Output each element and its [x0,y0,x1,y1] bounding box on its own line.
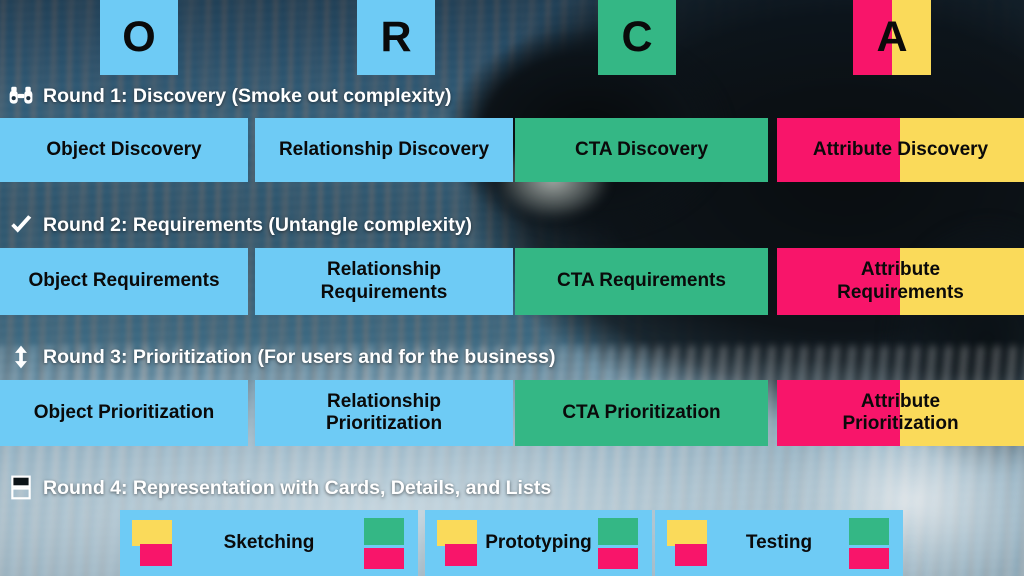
bar-relationship-prioritization: Relationship Prioritization [255,380,513,446]
bar-cta-discovery: CTA Discovery [515,118,768,182]
chip-pink-block [598,548,638,569]
round-1-title: Round 1: Discovery (Smoke out complexity… [43,85,452,108]
bar-relationship-discovery: Relationship Discovery [255,118,513,182]
bar-attribute-prioritization: Attribute Prioritization [777,380,1024,446]
bar-object-prioritization: Object Prioritization [0,380,248,446]
round-3-header: Round 3: Prioritization (For users and f… [8,344,555,370]
chip-pink-block [364,548,404,569]
bar-attribute-discovery: Attribute Discovery [777,118,1024,182]
chip-pink-block [140,544,172,566]
letter-tile-o: O [100,0,178,75]
prototyping-output-chip-icon [594,518,640,568]
card-sketching: Sketching [120,510,418,576]
chip-pink-block [445,544,477,566]
card-testing: Testing [655,510,903,576]
checkmark-icon [8,212,34,238]
card-prototyping-label: Prototyping [483,532,594,554]
card-sketching-label: Sketching [178,532,360,554]
chip-yellow-block [132,520,172,546]
letter-tile-a: A [853,0,931,75]
bar-relationship-requirements: Relationship Requirements [255,248,513,315]
round-1-header: Round 1: Discovery (Smoke out complexity… [8,83,452,109]
card-prototyping: Prototyping [425,510,652,576]
round-2-header: Round 2: Requirements (Untangle complexi… [8,212,472,238]
chip-yellow-block [437,520,477,546]
round-2-title: Round 2: Requirements (Untangle complexi… [43,214,472,237]
up-down-arrow-icon [8,344,34,370]
letter-tile-r: R [357,0,435,75]
card-testing-label: Testing [713,532,845,554]
letter-tile-c: C [598,0,676,75]
bar-cta-prioritization: CTA Prioritization [515,380,768,446]
chip-green-block [598,518,638,545]
testing-sketch-chip-icon [667,518,713,568]
prototyping-sketch-chip-icon [437,518,483,568]
chip-green-block [364,518,404,545]
round-3-title: Round 3: Prioritization (For users and f… [43,346,555,369]
chip-yellow-block [667,520,707,546]
letter-r-glyph: R [380,16,411,59]
letter-c-glyph: C [621,16,652,59]
chip-green-block [849,518,889,545]
sketching-output-chip-icon [360,518,406,568]
sketching-sketch-chip-icon [132,518,178,568]
bar-object-requirements: Object Requirements [0,248,248,315]
card-layout-icon [8,475,34,501]
letter-o-glyph: O [122,16,155,59]
round-4-header: Round 4: Representation with Cards, Deta… [8,475,551,501]
binoculars-icon [8,83,34,109]
bar-attribute-requirements: Attribute Requirements [777,248,1024,315]
chip-pink-block [849,548,889,569]
chip-pink-block [675,544,707,566]
bar-cta-requirements: CTA Requirements [515,248,768,315]
testing-output-chip-icon [845,518,891,568]
round-4-title: Round 4: Representation with Cards, Deta… [43,477,551,500]
letter-a-glyph: A [876,16,907,59]
bar-object-discovery: Object Discovery [0,118,248,182]
